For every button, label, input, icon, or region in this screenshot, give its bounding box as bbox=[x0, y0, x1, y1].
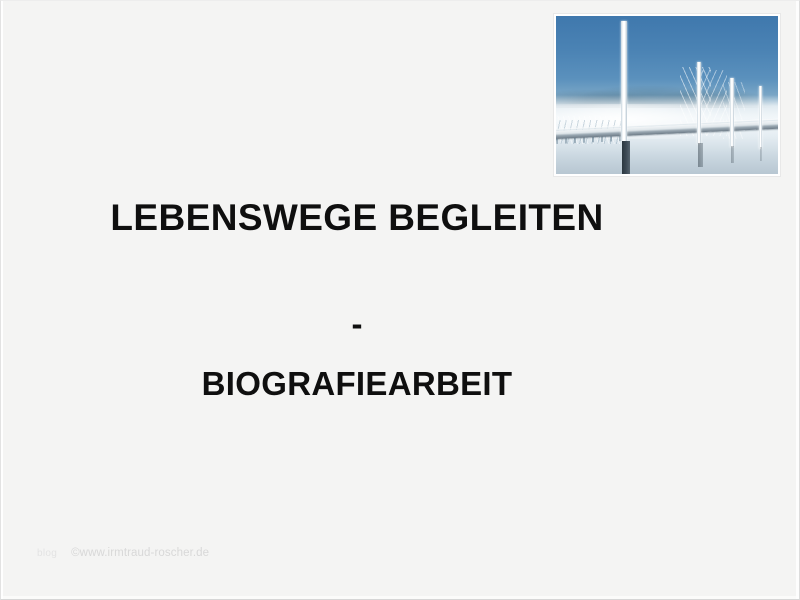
bridge-pier-3 bbox=[731, 146, 735, 163]
slide-subtitle-block: - BIOGRAFIEARBEIT bbox=[1, 304, 713, 406]
bridge-pier-1 bbox=[622, 141, 630, 174]
bridge-pier-2 bbox=[698, 143, 703, 167]
title-separator-dash: - bbox=[1, 304, 713, 344]
slide-title-primary: LEBENSWEGE BEGLEITEN bbox=[1, 195, 713, 241]
bridge-pylon-1 bbox=[621, 21, 627, 141]
slide-footer: blog ©www.irmtraud-roscher.de bbox=[37, 546, 209, 561]
bridge-pylon-2 bbox=[697, 62, 701, 144]
millau-viaduct-photo bbox=[556, 16, 778, 174]
footer-copyright-url[interactable]: ©www.irmtraud-roscher.de bbox=[71, 546, 209, 560]
bridge-pier-4 bbox=[760, 147, 763, 161]
slide-title-secondary: BIOGRAFIEARBEIT bbox=[1, 362, 713, 406]
photo-frame bbox=[554, 14, 780, 176]
bridge-pylon-3 bbox=[730, 78, 733, 148]
footer-tag: blog bbox=[37, 547, 57, 561]
presentation-slide: LEBENSWEGE BEGLEITEN - BIOGRAFIEARBEIT b… bbox=[0, 0, 800, 600]
bridge-pylon-4 bbox=[759, 86, 762, 149]
slide-title-block: LEBENSWEGE BEGLEITEN bbox=[1, 195, 713, 241]
